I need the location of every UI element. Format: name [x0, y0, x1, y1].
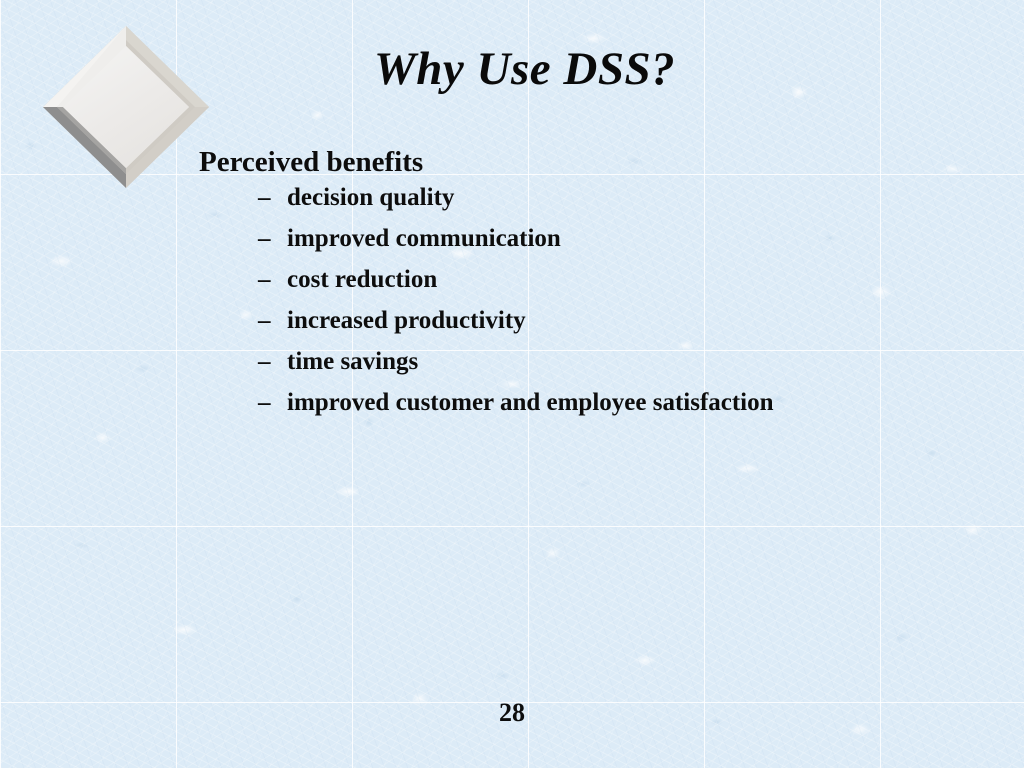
list-item: – time savings: [199, 349, 989, 390]
bullet-dash-icon: –: [258, 226, 287, 251]
bullet-dash-icon: –: [258, 185, 287, 210]
list-item: – improved communication: [199, 226, 989, 267]
slide-body: Perceived benefits – decision quality – …: [199, 144, 989, 431]
list-item: – improved customer and employee satisfa…: [199, 390, 989, 431]
bullet-dash-icon: –: [258, 349, 287, 374]
bullet-dash-icon: –: [258, 308, 287, 333]
diamond-bevel-icon: [43, 26, 209, 188]
list-item: – increased productivity: [199, 308, 989, 349]
list-item: – cost reduction: [199, 267, 989, 308]
bullet-dash-icon: –: [258, 267, 287, 292]
list-item-label: cost reduction: [287, 267, 437, 292]
list-item: – decision quality: [199, 185, 989, 226]
list-item-label: increased productivity: [287, 308, 526, 333]
slide-title: Why Use DSS?: [374, 42, 675, 96]
sub-bullet-list: – decision quality – improved communicat…: [199, 185, 989, 431]
list-item-label: improved communication: [287, 226, 561, 251]
list-item-label: improved customer and employee satisfact…: [287, 390, 774, 415]
page-number: 28: [0, 698, 1024, 728]
list-item-label: time savings: [287, 349, 418, 374]
bullet-dash-icon: –: [258, 390, 287, 415]
list-item-label: decision quality: [287, 185, 454, 210]
bullet-heading: Perceived benefits: [199, 144, 989, 181]
slide-canvas: Why Use DSS? Perceived benefits – decisi…: [0, 0, 1024, 768]
